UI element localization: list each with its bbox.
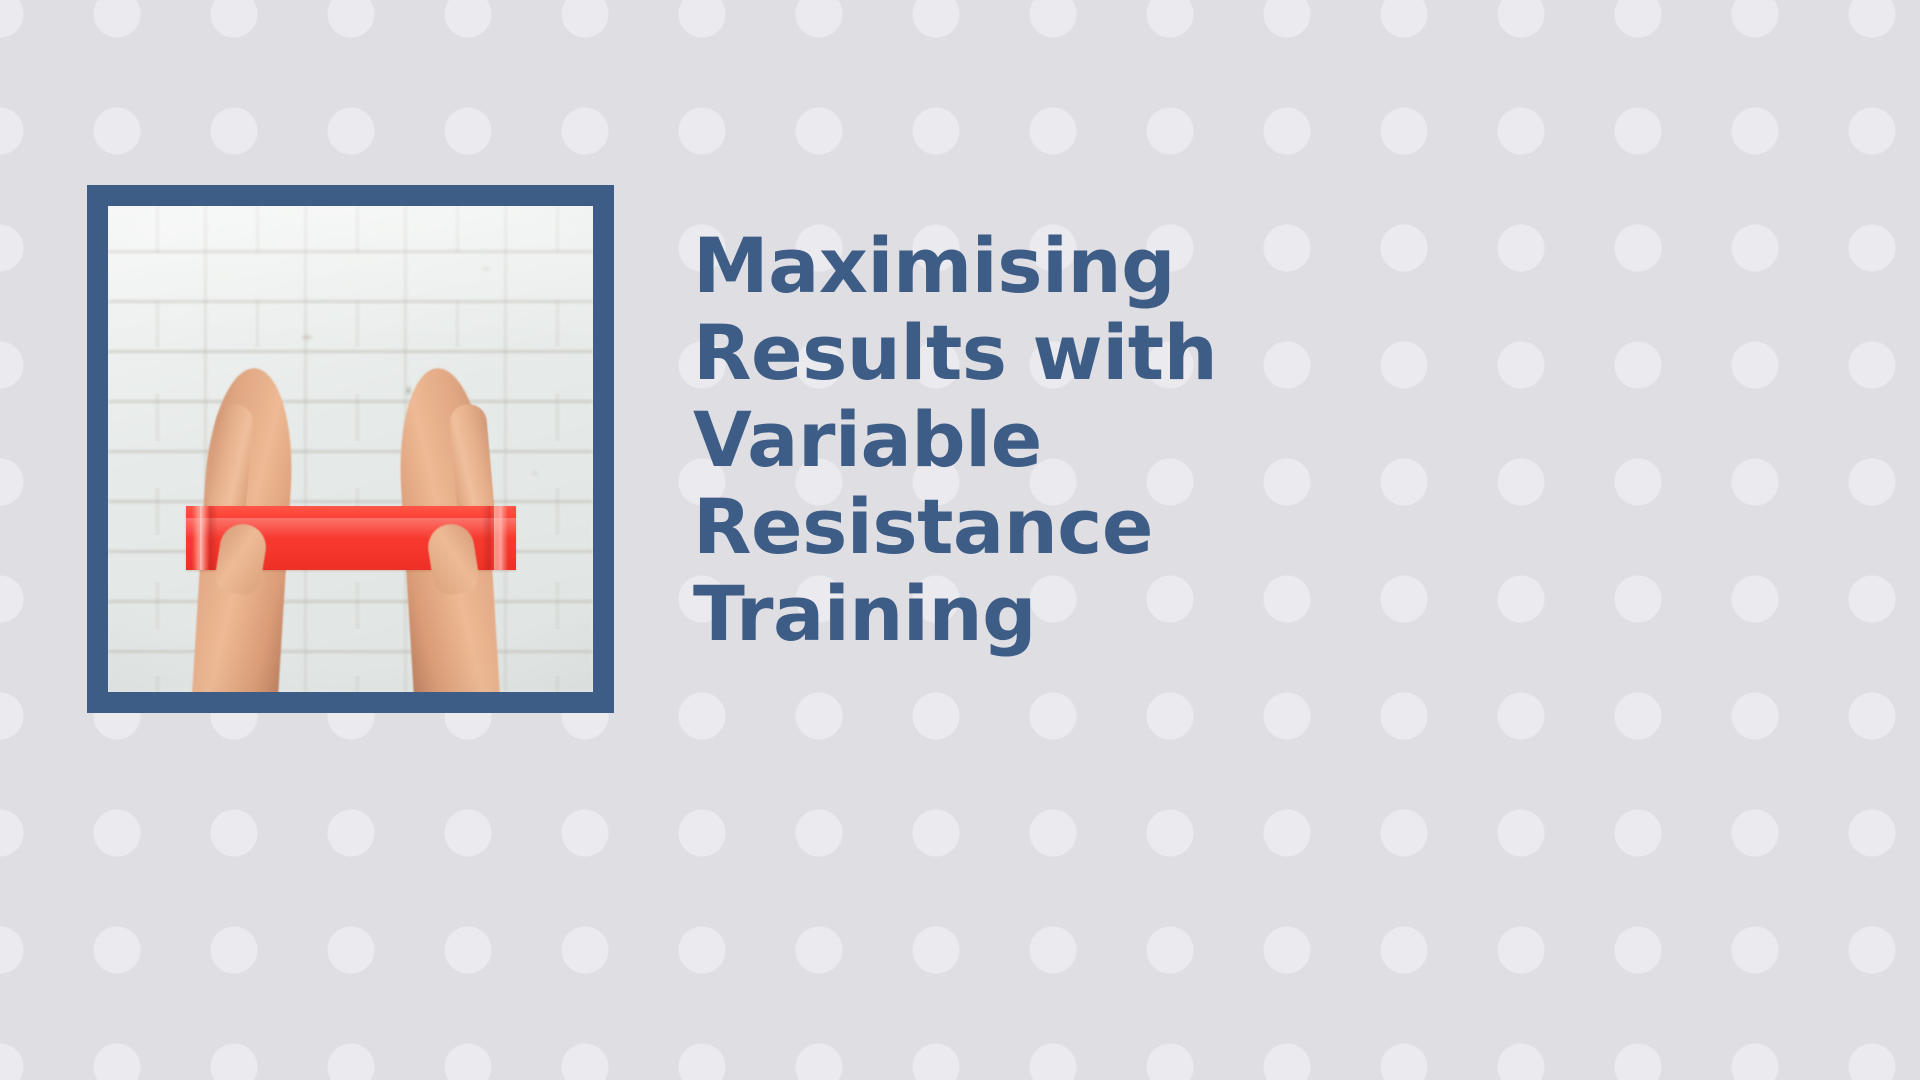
page-title: Maximising Results with Variable Resista… — [693, 222, 1373, 657]
title-line-1: Maximising — [693, 222, 1373, 309]
title-line-4: Resistance — [693, 483, 1373, 570]
title-line-5: Training — [693, 570, 1373, 657]
title-line-3: Variable — [693, 396, 1373, 483]
resistance-band-photo — [108, 206, 593, 692]
photo-vignette-overlay — [108, 206, 593, 692]
graphic-canvas: Maximising Results with Variable Resista… — [0, 0, 1920, 1080]
title-line-2: Results with — [693, 309, 1373, 396]
photo-frame — [87, 185, 614, 713]
